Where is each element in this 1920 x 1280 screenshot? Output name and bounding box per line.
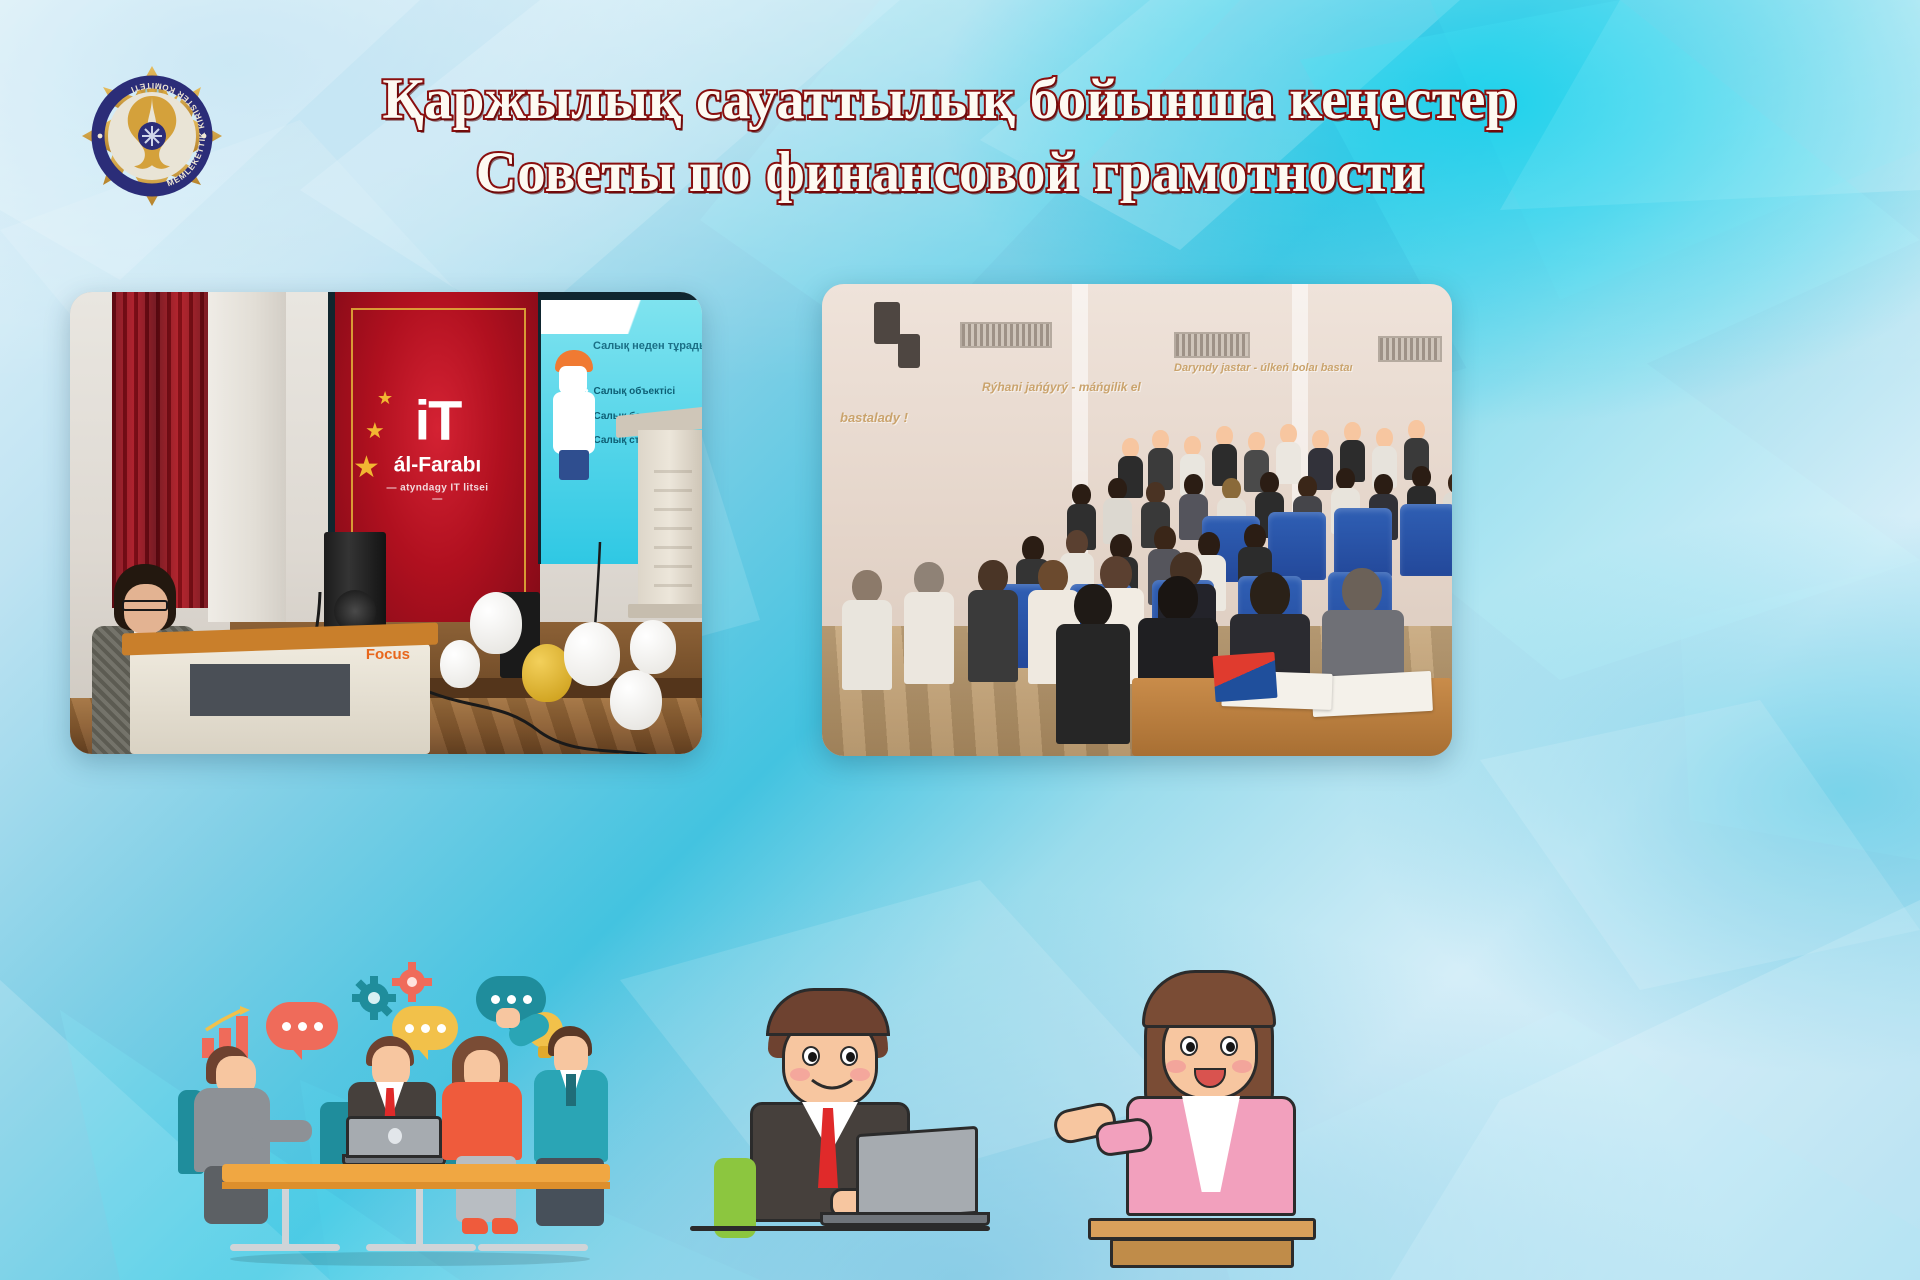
photo-presentation-hall: ★ ★ ★ iT ál-Farabı — atyndagy IT litsei … bbox=[70, 292, 702, 754]
av-console: Focus bbox=[130, 644, 430, 754]
speech-bubble bbox=[266, 1002, 338, 1050]
page-title: Қаржылық сауаттылық бойынша кеңестер Сов… bbox=[240, 64, 1660, 210]
gear-icon bbox=[392, 962, 432, 1002]
poster-header: MEMLEKETTIK KIRISTER KOMITETI Қаржылық с… bbox=[0, 52, 1920, 212]
desk-line bbox=[690, 1226, 990, 1231]
wall-slogan-secondary: bastalady ! bbox=[840, 410, 908, 425]
gear-icon bbox=[352, 976, 396, 1020]
illustration-woman-presenter bbox=[1040, 968, 1340, 1268]
presenter-desk bbox=[1088, 1218, 1316, 1240]
illustration-team-meeting bbox=[170, 970, 610, 1270]
illustration-man-with-laptop bbox=[690, 980, 990, 1270]
meeting-desk bbox=[222, 1164, 610, 1182]
poster-canvas: MEMLEKETTIK KIRISTER KOMITETI Қаржылық с… bbox=[0, 0, 1920, 1280]
illustration-strip bbox=[0, 960, 1920, 1280]
photo-audience-hall: Rýhani jańǵyrý - máńgilik el bastalady !… bbox=[822, 284, 1452, 756]
state-revenue-committee-emblem: MEMLEKETTIK KIRISTER KOMITETI bbox=[78, 62, 226, 210]
info-flyer bbox=[1212, 652, 1277, 702]
wall-slogan-tertiary: Daryndy jastar - úlkeń bolaı bastaı bbox=[1174, 362, 1353, 374]
wall-slogan-primary: Rýhani jańǵyrý - máńgilik el bbox=[982, 380, 1141, 394]
console-brand-label: Focus bbox=[366, 646, 410, 663]
title-line-russian: Советы по финансовой грамотности bbox=[240, 137, 1660, 210]
title-line-kazakh: Қаржылық сауаттылық бойынша кеңестер bbox=[240, 64, 1660, 137]
